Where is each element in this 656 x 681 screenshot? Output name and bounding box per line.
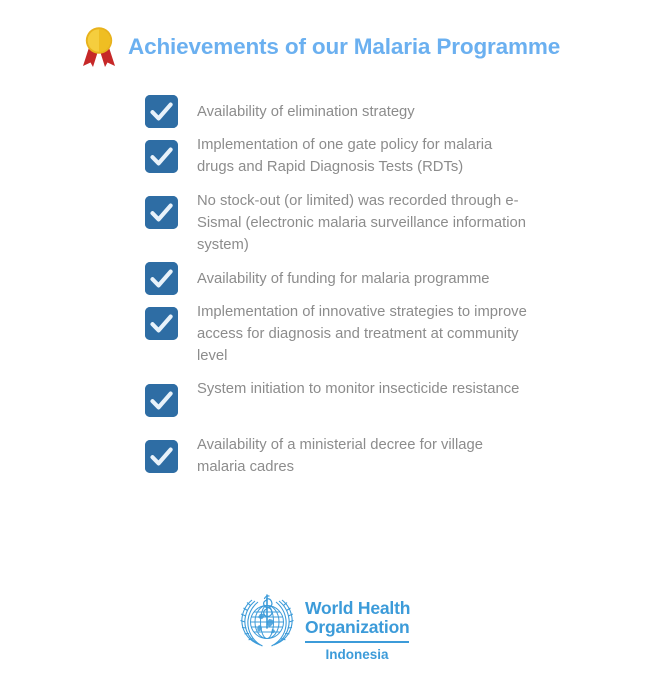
medal-ribbon-icon — [80, 26, 118, 68]
checkbox-checked[interactable] — [145, 134, 178, 179]
list-item: Implementation of innovative strategies … — [145, 301, 615, 367]
list-item: Availability of funding for malaria prog… — [145, 267, 615, 290]
checkbox-checked[interactable] — [145, 434, 178, 479]
checkbox-checked[interactable] — [145, 378, 178, 423]
who-country-label: Indonesia — [305, 647, 409, 662]
who-wordmark: World Health Organization Indonesia — [305, 592, 410, 662]
who-emblem-icon — [238, 592, 296, 650]
list-item: No stock-out (or limited) was recorded t… — [145, 190, 615, 256]
checkbox-checked[interactable] — [145, 190, 178, 235]
checkbox-checked[interactable] — [145, 301, 178, 346]
list-item-label: System initiation to monitor insecticide… — [197, 378, 519, 400]
list-item-label: Availability of a ministerial decree for… — [197, 434, 527, 478]
list-item: System initiation to monitor insecticide… — [145, 378, 615, 423]
who-divider — [305, 641, 409, 643]
page-header: Achievements of our Malaria Programme — [80, 26, 560, 68]
list-item-label: Availability of funding for malaria prog… — [197, 267, 490, 290]
who-logo: World Health Organization Indonesia — [238, 592, 410, 662]
list-item-label: Implementation of one gate policy for ma… — [197, 134, 527, 178]
achievements-list: Availability of elimination strategy Imp… — [145, 100, 615, 490]
list-item-label: Implementation of innovative strategies … — [197, 301, 527, 367]
list-item-label: No stock-out (or limited) was recorded t… — [197, 190, 527, 256]
list-item: Availability of elimination strategy — [145, 100, 615, 123]
checkbox-checked[interactable] — [145, 100, 178, 123]
who-org-line1: World Health — [305, 599, 410, 618]
page-title: Achievements of our Malaria Programme — [128, 36, 560, 59]
list-item: Availability of a ministerial decree for… — [145, 434, 615, 479]
who-org-line2: Organization — [305, 618, 410, 637]
checkbox-checked[interactable] — [145, 267, 178, 290]
list-item: Implementation of one gate policy for ma… — [145, 134, 615, 179]
list-item-label: Availability of elimination strategy — [197, 100, 415, 123]
